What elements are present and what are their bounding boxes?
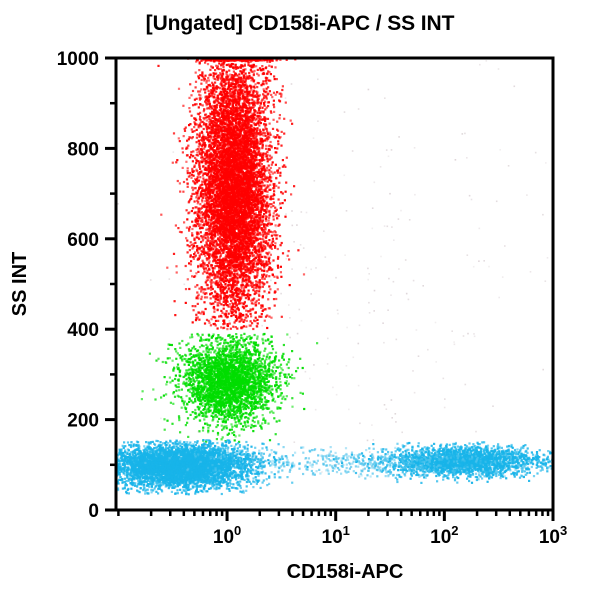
y-axis-tick-label: 400	[67, 320, 99, 341]
y-axis-tick-label: 200	[67, 411, 99, 432]
y-axis-tick-label: 0	[88, 501, 99, 522]
x-axis-tick-labels: 100101102103	[213, 523, 567, 548]
plot-frame	[116, 58, 553, 510]
x-axis-tick-label: 101	[322, 523, 350, 548]
y-axis-tick-label: 600	[67, 230, 99, 251]
x-axis-ticks	[118, 510, 553, 521]
x-axis-label: CD158i-APC	[287, 561, 404, 583]
y-axis-tick-label: 1000	[57, 49, 99, 70]
scatter-plot-canvas: 02004006008001000 100101102103 CD158i-AP…	[0, 0, 600, 600]
y-axis-tick-label: 800	[67, 139, 99, 160]
y-axis-label: SS INT	[9, 252, 31, 316]
y-axis-tick-labels: 02004006008001000	[57, 49, 99, 522]
data-points-layer	[115, 57, 554, 495]
flow-cytometry-scatter-plot: [Ungated] CD158i-APC / SS INT 0200400600…	[0, 0, 600, 600]
x-axis-tick-label: 100	[213, 523, 241, 548]
y-axis-ticks	[105, 58, 116, 510]
x-axis-tick-label: 103	[539, 523, 567, 548]
x-axis-tick-label: 102	[430, 523, 458, 548]
